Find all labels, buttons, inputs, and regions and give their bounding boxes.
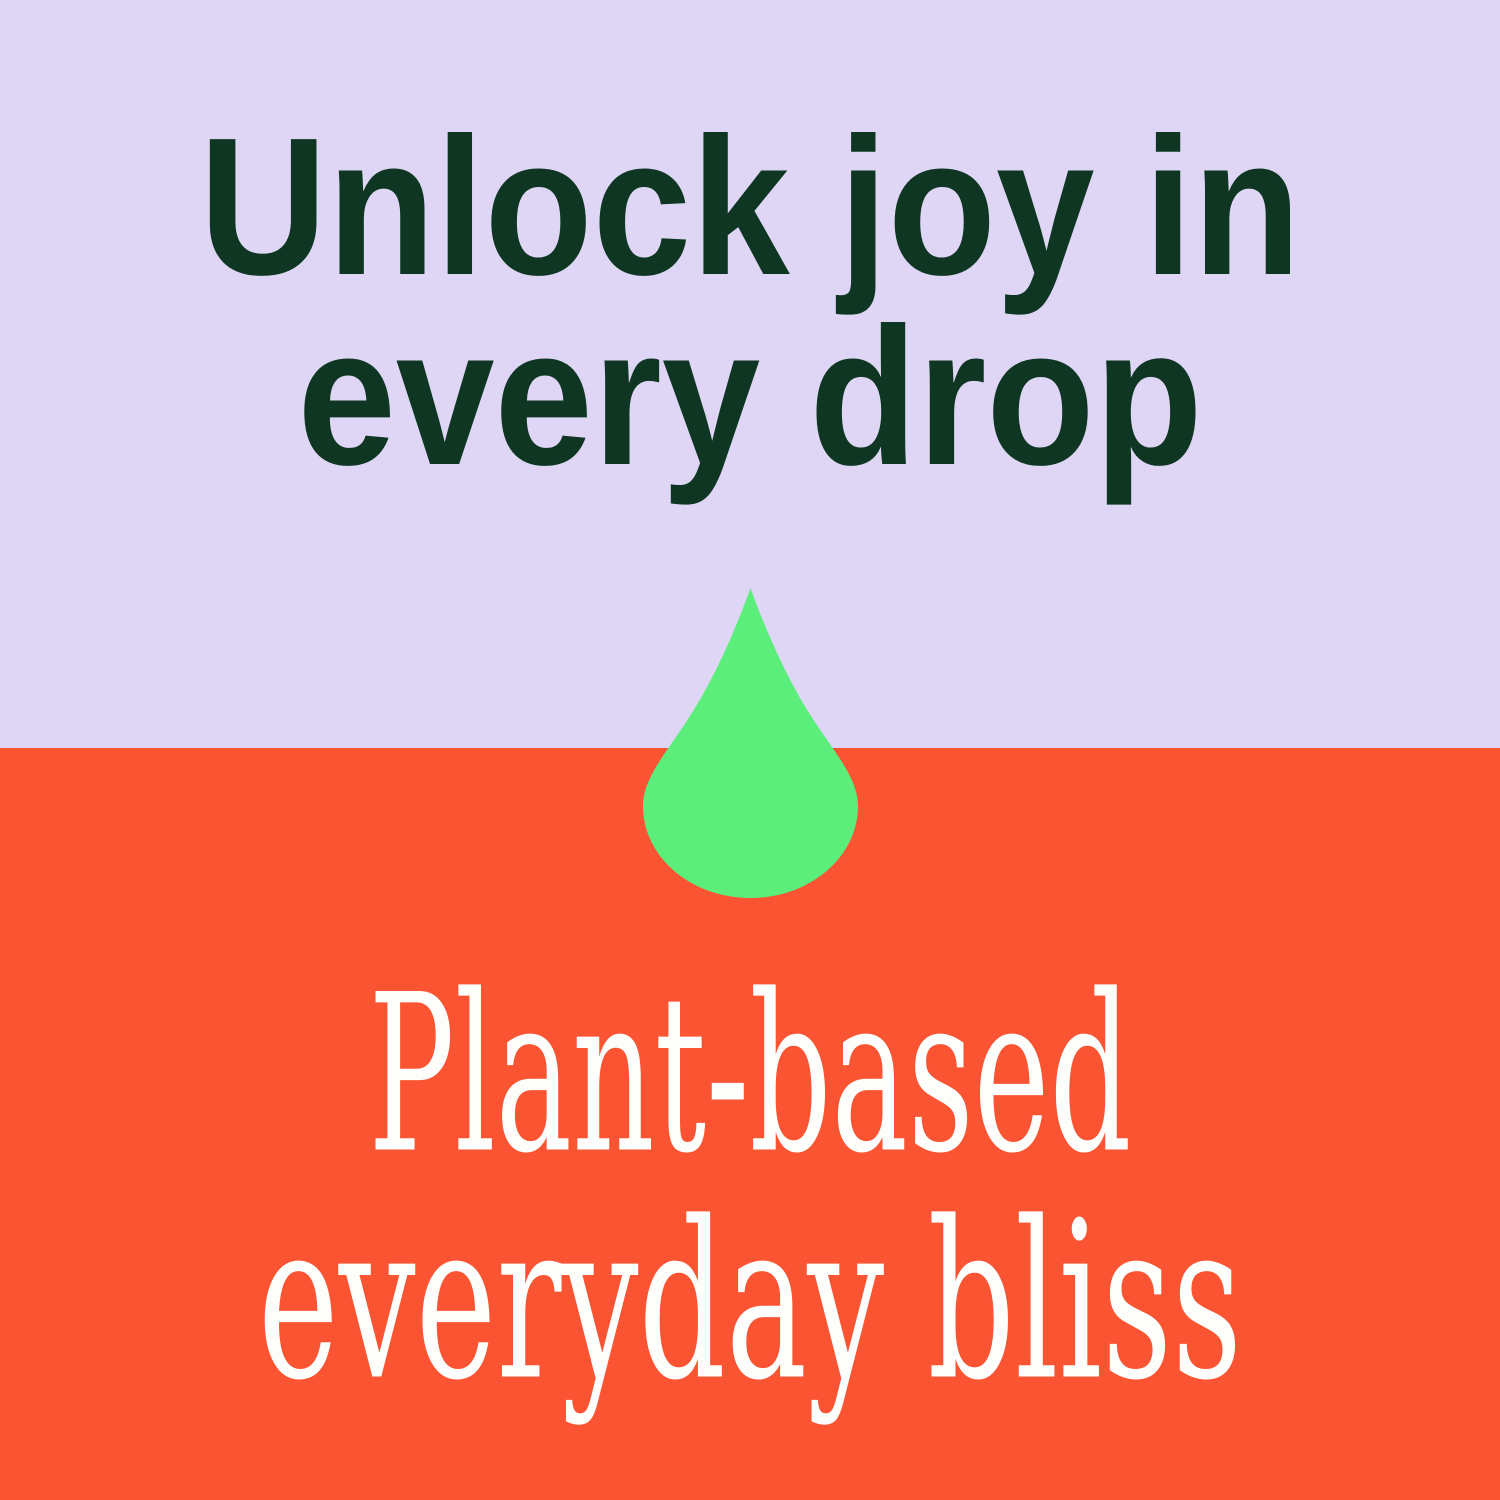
subline-block: Plant-based everyday bliss [0, 965, 1500, 1401]
subline-line-1: Plant-based [281, 965, 1219, 1187]
headline-line-2: every drop [71, 302, 1429, 492]
headline-block: Unlock joy in every drop [0, 112, 1500, 492]
poster-canvas: Unlock joy in every drop Plant-based eve… [0, 0, 1500, 1500]
subline-line-2: everyday bliss [251, 1192, 1249, 1414]
water-droplet-icon [643, 588, 858, 898]
headline-line-1: Unlock joy in [71, 112, 1429, 302]
